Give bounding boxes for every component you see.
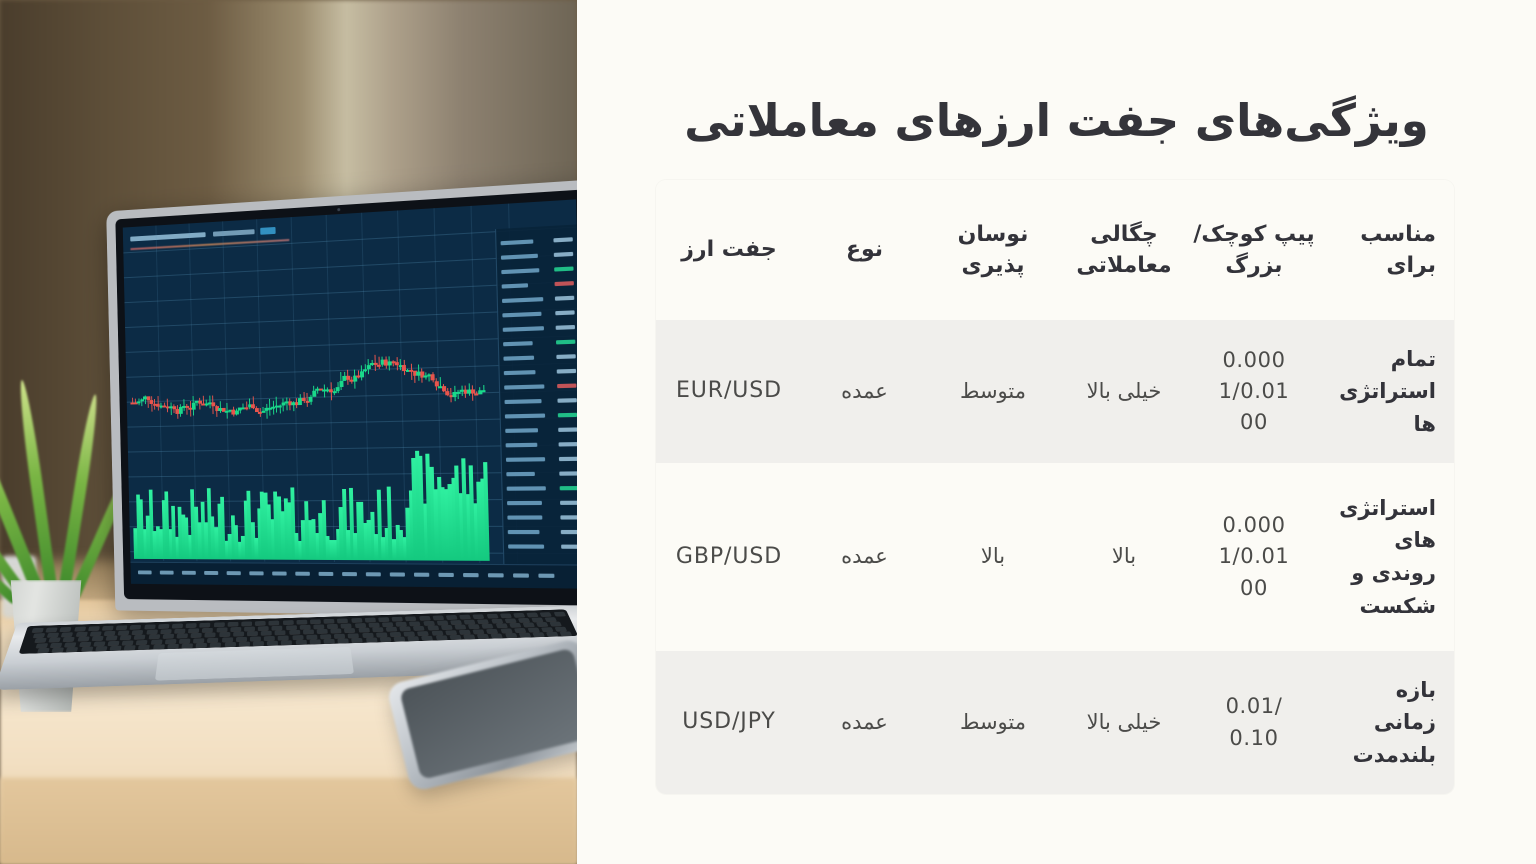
keyboard-key: [179, 639, 190, 644]
keyboard-key: [275, 630, 286, 634]
keyboard-key: [505, 633, 517, 638]
keyboard-key: [216, 627, 227, 631]
watchlist-row: [503, 340, 575, 347]
watchlist-value: [555, 310, 574, 315]
candlestick: [245, 407, 249, 409]
cell-density: بالا: [1059, 463, 1189, 651]
keyboard-key: [540, 612, 552, 616]
keyboard-key: [188, 628, 199, 632]
candlestick-wick: [239, 407, 240, 413]
watchlist-value: [557, 369, 576, 374]
keyboard-key: [250, 636, 261, 641]
column-header-volatility: نوسان پذیری: [927, 180, 1059, 320]
watchlist-row: [503, 354, 575, 361]
keyboard-key: [550, 622, 562, 626]
keyboard-key: [553, 612, 565, 616]
keyboard-key: [236, 637, 247, 642]
keyboard-key: [272, 625, 283, 629]
cell-suitable: استراتژی‌های روندی و شکست: [1319, 463, 1454, 651]
keyboard-key: [531, 617, 543, 621]
keyboard-key: [295, 640, 306, 645]
axis-tick-label: [138, 570, 152, 574]
watchlist-value: [554, 252, 573, 257]
watchlist-row: [507, 486, 577, 491]
keyboard-key: [372, 627, 383, 631]
watchlist-row: [501, 252, 573, 260]
column-header-density: چگالی معاملاتی: [1059, 180, 1189, 320]
candlestick: [137, 402, 141, 404]
keyboard-key: [441, 625, 453, 629]
candlestick-wick: [476, 391, 477, 394]
watchlist-value: [561, 530, 577, 534]
keyboard-key: [546, 632, 558, 637]
keyboard-key: [165, 639, 177, 644]
candlestick-wick: [378, 357, 379, 369]
candlestick-wick: [266, 404, 267, 419]
cell-suitable: تمام استراتژی‌ها: [1319, 320, 1454, 463]
keyboard-key: [269, 621, 280, 625]
keyboard-key: [177, 633, 188, 638]
keyboard-key: [33, 633, 45, 638]
keyboard-key: [519, 633, 531, 638]
candlestick-wick: [223, 408, 224, 412]
candlestick-wick: [290, 398, 291, 410]
keyboard-key: [74, 627, 86, 631]
keyboard-key: [500, 628, 512, 632]
table-body: تمام استراتژی‌ها 0.0001/0.0100 خیلی بالا…: [656, 320, 1454, 794]
cell-pip: 0.0001/0.0100: [1189, 463, 1319, 651]
watchlist-row: [504, 383, 576, 389]
keyboard-key: [341, 623, 352, 627]
keyboard-key: [124, 645, 136, 650]
keyboard-key: [523, 623, 535, 627]
keyboard-key: [196, 643, 207, 648]
candlestick-wick: [358, 370, 359, 378]
candlestick-wick: [174, 404, 175, 413]
keyboard-key: [509, 623, 521, 627]
cell-pair: EUR/USD: [656, 320, 802, 463]
cell-pair: GBP/USD: [656, 463, 802, 651]
keyboard-key: [323, 639, 334, 644]
keyboard-key: [46, 627, 58, 631]
keyboard-key: [130, 625, 142, 629]
keyboard-key: [334, 634, 345, 639]
keyboard-key: [158, 624, 169, 628]
watchlist-value: [557, 398, 576, 403]
currency-pairs-table: مناسب برای پیپ کوچک/بزرگ چگالی معاملاتی …: [656, 180, 1454, 794]
keyboard-key: [364, 618, 375, 622]
candlestick-wick: [347, 369, 348, 384]
keyboard-key: [473, 614, 485, 618]
content-panel: ویژگی‌های جفت ارزهای معاملاتی مناسب برای…: [577, 0, 1536, 864]
keyboard-key: [118, 630, 130, 634]
keyboard-key: [313, 624, 324, 628]
keyboard-key: [162, 634, 173, 639]
candlestick-wick: [407, 369, 408, 372]
candlestick-wick: [480, 387, 481, 394]
keyboard-key: [224, 642, 235, 647]
column-header-pip: پیپ کوچک/بزرگ: [1189, 180, 1319, 320]
candlestick-wick: [132, 398, 133, 404]
candlestick-wick: [164, 403, 165, 407]
keyboard-key: [144, 624, 155, 628]
candlestick-wick: [469, 383, 470, 395]
keyboard-key: [95, 646, 107, 651]
keyboard-key: [403, 631, 415, 636]
keyboard-key: [427, 626, 439, 630]
keyboard-key: [306, 634, 317, 639]
keyboard-key: [399, 626, 411, 630]
cell-volatility: بالا: [927, 463, 1059, 651]
axis-tick-label: [390, 572, 405, 576]
keyboard-key: [545, 617, 557, 621]
keyboard-key: [172, 624, 183, 628]
candlestick: [332, 391, 336, 393]
watchlist-row: [507, 501, 577, 506]
candlestick-wick: [432, 372, 433, 382]
keyboard-key: [491, 634, 503, 639]
keyboard-key: [132, 630, 144, 634]
keyboard-key: [477, 619, 489, 623]
trading-chart-screen: [123, 199, 577, 588]
keyboard-key: [222, 637, 233, 642]
keyboard-key: [413, 626, 425, 630]
watchlist-row: [502, 310, 574, 317]
keyboard-key: [47, 632, 59, 637]
keyboard-key: [527, 627, 539, 631]
keyboard-key: [37, 648, 50, 653]
keyboard-key: [239, 642, 250, 647]
keyboard-key: [541, 627, 553, 631]
keyboard-key: [253, 641, 264, 646]
keyboard-key: [390, 632, 402, 637]
keyboard-key: [244, 626, 255, 630]
keyboard-key: [205, 633, 216, 638]
axis-tick-label: [488, 573, 504, 577]
candlestick-wick: [187, 404, 188, 414]
watchlist-symbol: [503, 326, 544, 332]
watchlist-row: [501, 237, 573, 245]
candlestick-wick: [233, 407, 234, 417]
keyboard-key: [65, 642, 77, 647]
table-header-row: مناسب برای پیپ کوچک/بزرگ چگالی معاملاتی …: [656, 180, 1454, 320]
keyboard-key: [81, 647, 93, 652]
keyboard-key: [299, 625, 310, 629]
candlestick: [456, 392, 460, 394]
keyboard-key: [513, 613, 525, 617]
keyboard-key: [296, 620, 307, 624]
candlestick-wick: [141, 399, 142, 406]
axis-tick-label: [538, 574, 554, 578]
keyboard-key: [324, 619, 335, 623]
candlestick-wick: [256, 406, 257, 412]
candlestick-wick: [243, 404, 244, 408]
candlestick-wick: [386, 357, 387, 369]
candlestick-wick: [361, 366, 362, 381]
watchlist-value: [555, 296, 574, 301]
keyboard-key: [396, 622, 407, 626]
candlestick-wick: [443, 385, 444, 393]
watchlist-value: [559, 442, 577, 446]
keyboard-key: [120, 635, 132, 640]
candlestick-wick: [263, 407, 264, 413]
keyboard-key: [93, 641, 105, 646]
keyboard-key: [330, 629, 341, 633]
candlestick-wick: [219, 401, 220, 413]
legend-price-label: [213, 229, 255, 236]
keyboard-key: [210, 643, 221, 648]
keyboard-key: [122, 640, 134, 645]
keyboard-key: [408, 636, 420, 641]
keyboard-key: [153, 645, 165, 650]
axis-tick-label: [366, 572, 381, 576]
watchlist-symbol: [502, 283, 528, 288]
watchlist-symbol: [505, 399, 542, 404]
watchlist-row: [508, 530, 577, 534]
keyboard-key: [193, 638, 204, 643]
watchlist-value: [558, 413, 577, 418]
keyboard-key: [34, 638, 46, 643]
keyboard-key: [167, 644, 179, 649]
candlestick: [360, 371, 364, 377]
candlestick-wick: [161, 403, 162, 409]
keyboard-key: [352, 638, 364, 643]
candlestick-wick: [193, 396, 194, 416]
watchlist-value: [559, 471, 577, 475]
keyboard-key: [464, 619, 476, 623]
laptop-trackpad: [155, 647, 354, 681]
candlestick-wick: [389, 356, 390, 370]
cell-type: عمده: [802, 651, 927, 794]
candlestick-wick: [454, 386, 455, 401]
page-root: ویژگی‌های جفت ارزهای معاملاتی مناسب برای…: [0, 0, 1536, 864]
keyboard-key: [136, 640, 148, 645]
keyboard-key: [181, 644, 192, 649]
candlestick-wick: [403, 360, 404, 375]
watchlist-symbol: [501, 254, 538, 260]
keyboard-key: [423, 621, 435, 625]
keyboard-key: [50, 643, 62, 648]
candlestick-wick: [320, 389, 321, 391]
keyboard-key: [61, 632, 73, 637]
keyboard-key: [491, 619, 503, 623]
watchlist-value: [555, 281, 574, 286]
watchlist-symbol: [505, 428, 538, 433]
watchlist-symbol: [506, 472, 535, 476]
laptop-lid: [106, 180, 577, 619]
candlestick-wick: [229, 409, 230, 412]
keyboard-key: [310, 619, 321, 623]
keyboard-key: [536, 622, 548, 626]
keyboard-key: [88, 626, 100, 630]
keyboard-key: [108, 641, 120, 646]
candlestick-wick: [259, 408, 260, 416]
cell-pip: 0.0001/0.0100: [1189, 320, 1319, 463]
keyboard-key: [532, 632, 544, 637]
keyboard-key: [463, 635, 475, 640]
watchlist-row: [506, 471, 577, 476]
watchlist-value: [556, 340, 575, 345]
keyboard-key: [90, 631, 102, 636]
keyboard-key: [527, 613, 539, 617]
keyboard-key: [486, 629, 498, 633]
keyboard-key: [214, 622, 225, 626]
keyboard-key: [186, 623, 197, 627]
candlestick-wick: [439, 378, 440, 388]
keyboard-key: [376, 632, 388, 637]
candlestick-wick: [317, 387, 318, 394]
keyboard-key: [146, 629, 157, 633]
candlestick: [278, 405, 282, 407]
candlestick-wick: [246, 401, 247, 410]
keyboard-key: [202, 628, 213, 632]
watchlist-value: [554, 266, 573, 271]
watchlist-value: [557, 383, 576, 388]
keyboard-key: [495, 623, 507, 627]
keyboard-key: [486, 614, 498, 618]
cell-density: خیلی بالا: [1059, 651, 1189, 794]
keyboard-key: [567, 611, 577, 615]
keyboard-key: [504, 618, 516, 622]
axis-tick-label: [249, 571, 263, 575]
keyboard-key: [151, 639, 163, 644]
keyboard-key: [200, 623, 211, 627]
keyboard-key: [138, 645, 150, 650]
watchlist-value: [560, 501, 577, 505]
keyboard-key: [174, 628, 185, 632]
webcam-icon: [337, 208, 340, 211]
keyboard-key: [230, 627, 241, 631]
keyboard-key: [281, 640, 292, 645]
watchlist-symbol: [501, 268, 539, 274]
candlestick-wick: [483, 385, 484, 390]
candlestick-wick: [410, 364, 411, 380]
candlestick: [309, 396, 313, 401]
candlestick: [140, 399, 144, 401]
axis-tick-label: [414, 573, 429, 577]
candlestick-wick: [203, 395, 204, 405]
watchlist-symbol: [503, 341, 533, 346]
candlestick-wick: [461, 386, 462, 396]
currency-pairs-table-card: مناسب برای پیپ کوچک/بزرگ چگالی معاملاتی …: [656, 180, 1454, 794]
table-row: استراتژی‌های روندی و شکست 0.0001/0.0100 …: [656, 463, 1454, 651]
keyboard-key: [473, 629, 485, 633]
keyboard-key: [560, 632, 573, 637]
keyboard-key: [431, 631, 443, 635]
legend-symbol-label: [130, 232, 205, 241]
watchlist-symbol: [508, 530, 540, 534]
keyboard-key: [454, 625, 466, 629]
keyboard-key: [134, 635, 146, 640]
axis-tick-label: [438, 573, 453, 577]
keyboard-key: [278, 635, 289, 640]
candlestick-wick: [451, 388, 452, 402]
legend-badge: [260, 227, 275, 235]
keyboard-key: [219, 632, 230, 637]
watchlist-symbol: [502, 297, 543, 303]
keyboard-key: [309, 640, 320, 645]
watchlist-row: [501, 266, 573, 274]
keyboard-key: [338, 639, 349, 644]
watchlist-symbol: [507, 515, 542, 519]
candlestick: [482, 390, 486, 392]
keyboard-key: [449, 635, 461, 640]
keyboard-key: [409, 621, 421, 625]
candlestick-wick: [157, 396, 158, 411]
keyboard-key: [255, 621, 266, 625]
candlestick: [363, 370, 367, 372]
keyboard-key: [36, 643, 48, 648]
watchlist-panel: [495, 224, 577, 565]
candlestick-wick: [429, 373, 430, 381]
candlestick-wick: [286, 397, 287, 409]
axis-tick-label: [319, 572, 334, 576]
candlestick-wick: [249, 399, 250, 410]
table-row: بازه زمانی بلندمدت 0.01/0.10 خیلی بالا م…: [656, 651, 1454, 794]
candlestick-wick: [472, 386, 473, 401]
cell-density: خیلی بالا: [1059, 320, 1189, 463]
keyboard-key: [49, 637, 61, 642]
watchlist-value: [560, 515, 577, 519]
keyboard-key: [394, 637, 406, 642]
watchlist-value: [559, 457, 577, 461]
keyboard-key: [392, 617, 403, 621]
watchlist-symbol: [504, 384, 544, 389]
candlestick-wick: [436, 378, 437, 390]
candlestick-wick: [273, 401, 274, 415]
keyboard-key: [286, 625, 297, 629]
keyboard-key: [459, 630, 471, 634]
keyboard-key: [446, 615, 458, 619]
axis-tick-label: [463, 573, 479, 577]
keyboard-key: [227, 622, 238, 626]
cell-volatility: متوسط: [927, 651, 1059, 794]
watchlist-symbol: [502, 312, 541, 318]
watchlist-row: [502, 296, 574, 303]
keyboard-key: [368, 622, 379, 626]
keyboard-key: [405, 616, 416, 620]
candlestick-wick: [382, 357, 383, 367]
keyboard-key: [191, 633, 202, 638]
axis-tick-label: [295, 572, 310, 576]
watchlist-symbol: [506, 443, 538, 448]
keyboard-key: [445, 630, 457, 634]
keyboard-key: [435, 636, 447, 641]
candlestick-wick: [368, 359, 369, 375]
watchlist-symbol: [506, 457, 545, 462]
watchlist-value: [560, 486, 577, 490]
axis-tick-label: [204, 571, 218, 575]
keyboard-key: [264, 636, 275, 641]
keyboard-key: [79, 642, 91, 647]
column-header-suitable: مناسب برای: [1319, 180, 1454, 320]
column-header-pair: جفت ارز: [656, 180, 802, 320]
keyboard-key: [102, 626, 114, 630]
watchlist-value: [556, 325, 575, 330]
candlestick-wick: [327, 387, 328, 392]
watchlist-symbol: [507, 501, 542, 505]
keyboard-key: [380, 637, 392, 642]
column-header-type: نوع: [802, 180, 927, 320]
keyboard-key: [233, 632, 244, 637]
candlestick: [339, 381, 343, 387]
watchlist-row: [503, 325, 575, 332]
keyboard-key: [366, 638, 378, 643]
watchlist-value: [556, 354, 575, 359]
watchlist-row: [506, 442, 577, 447]
watchlist-row: [502, 281, 574, 289]
candlestick-wick: [458, 390, 459, 399]
